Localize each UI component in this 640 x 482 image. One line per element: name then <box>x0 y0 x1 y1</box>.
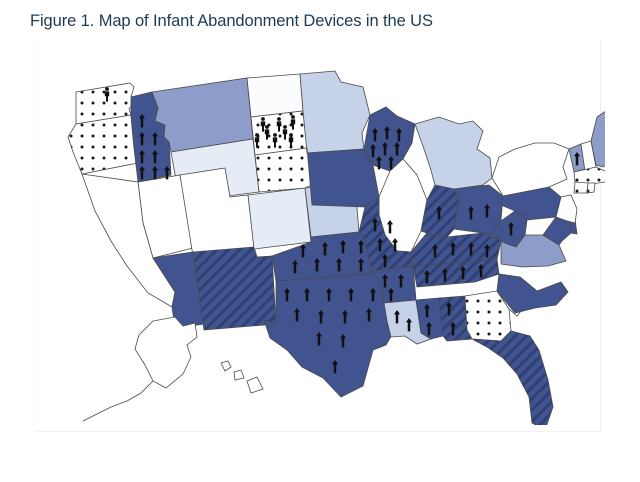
state-co[interactable] <box>248 188 311 249</box>
state-nm[interactable] <box>193 247 276 330</box>
state-tx[interactable] <box>264 273 400 397</box>
state-ak-aleutians <box>83 381 153 421</box>
state-or[interactable] <box>68 115 138 174</box>
state-nd[interactable] <box>247 74 303 117</box>
page-title: Figure 1. Map of Infant Abandonment Devi… <box>30 12 433 31</box>
state-ne[interactable] <box>255 148 312 192</box>
state-hi[interactable] <box>221 361 263 393</box>
state-ct[interactable] <box>574 182 588 193</box>
state-wi[interactable] <box>364 107 415 171</box>
state-mn[interactable] <box>300 71 370 153</box>
state-mi[interactable] <box>415 117 492 189</box>
state-fl[interactable] <box>472 331 553 425</box>
state-ak[interactable] <box>135 317 197 388</box>
map-region-noncontiguous <box>83 317 263 421</box>
state-ny[interactable] <box>492 143 569 196</box>
figure-card: Figure 1. Map of Infant Abandonment Devi… <box>0 0 640 482</box>
state-ri[interactable] <box>587 183 595 193</box>
us-choropleth-map[interactable] <box>35 45 605 425</box>
